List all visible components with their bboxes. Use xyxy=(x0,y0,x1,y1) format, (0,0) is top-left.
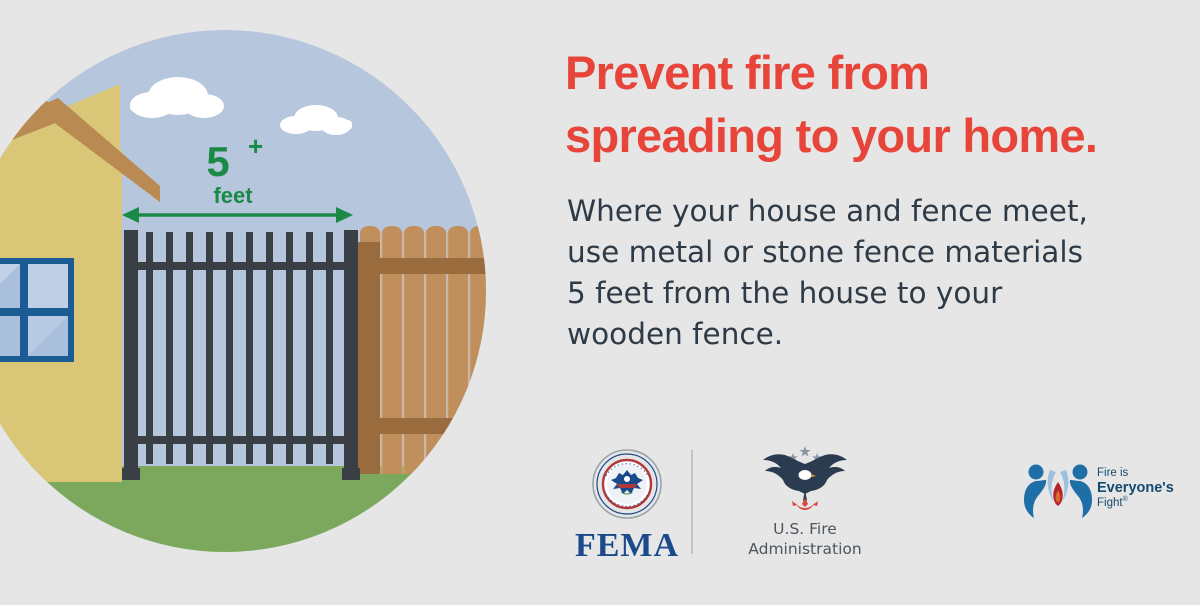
logo-divider xyxy=(691,450,693,554)
usfa-logo: U.S. Fire Administration xyxy=(715,444,895,560)
metal-rail-top xyxy=(132,262,350,270)
measurement-value: 5 xyxy=(206,138,229,185)
logo-strip: FEMA xyxy=(565,440,1185,565)
headline-line-1: Prevent fire from xyxy=(565,42,1165,105)
fief-mark-icon xyxy=(1020,458,1096,520)
fence-rail-bottom xyxy=(360,418,520,434)
window xyxy=(0,258,74,362)
body-line-2: use metal or stone fence materials xyxy=(567,232,1157,273)
fema-wordmark: FEMA xyxy=(567,527,687,565)
grass xyxy=(0,466,520,600)
eagle-icon xyxy=(759,444,851,514)
fief-trademark: ® xyxy=(1123,496,1128,503)
content-column: Prevent fire from spreading to your home… xyxy=(565,0,1185,600)
fence-post xyxy=(356,242,380,474)
fire-is-everyones-fight-logo: Fire is Everyone's Fight® xyxy=(1020,458,1180,528)
fief-line-3: Fight® xyxy=(1097,496,1174,510)
metal-rail-bottom xyxy=(132,436,350,444)
headline-line-2: spreading to your home. xyxy=(565,105,1165,168)
body-line-4: wooden fence. xyxy=(567,314,1157,355)
fief-line-3-text: Fight xyxy=(1097,497,1123,509)
dhs-seal-icon xyxy=(591,448,663,520)
fief-line-1: Fire is xyxy=(1097,467,1174,480)
scene-svg: 5 + feet xyxy=(0,0,520,600)
fief-line-2: Everyone's xyxy=(1097,480,1174,496)
usfa-name-line-2: Administration xyxy=(715,540,895,560)
usfa-name-line-1: U.S. Fire xyxy=(715,520,895,540)
body-text: Where your house and fence meet, use met… xyxy=(567,191,1157,355)
infographic-poster: 5 + feet Prevent fire from spreading to … xyxy=(0,0,1200,600)
fief-text: Fire is Everyone's Fight® xyxy=(1097,467,1174,510)
circular-scene xyxy=(0,0,520,600)
page-title: Prevent fire from spreading to your home… xyxy=(565,42,1165,167)
fema-logo: FEMA xyxy=(567,448,687,565)
illustration-panel: 5 + feet xyxy=(0,0,520,600)
measurement-unit: feet xyxy=(213,183,253,208)
usfa-name: U.S. Fire Administration xyxy=(715,520,895,560)
body-line-3: 5 feet from the house to your xyxy=(567,273,1157,314)
body-line-1: Where your house and fence meet, xyxy=(567,191,1157,232)
fence-rail-top xyxy=(360,258,520,274)
measurement-superscript: + xyxy=(248,131,263,161)
wooden-fence xyxy=(356,226,520,474)
